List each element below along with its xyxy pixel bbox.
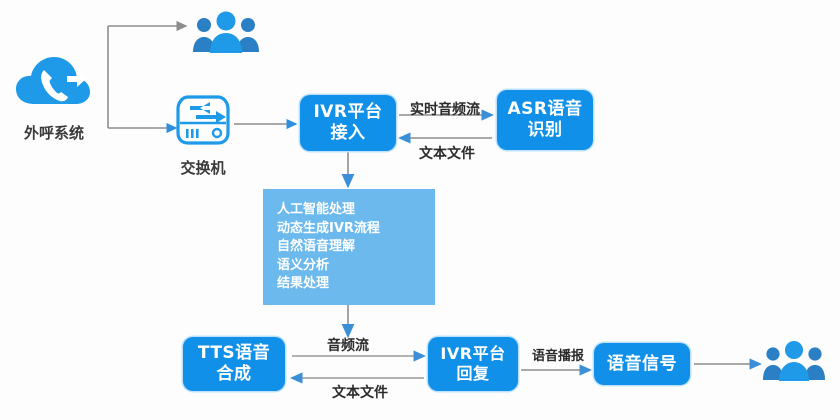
node-tts[interactable]: TTS语音 合成 xyxy=(183,337,285,391)
diagram-canvas: 外呼系统 交换机 xyxy=(0,0,840,420)
node-ai-processing[interactable]: 人工智能处理 动态生成IVR流程 自然语音理解 语义分析 结果处理 xyxy=(263,189,435,305)
people-group-icon xyxy=(192,8,260,56)
outbound-system-label: 外呼系统 xyxy=(4,122,104,143)
edge-label-audio-stream: 音频流 xyxy=(310,335,386,355)
switch-label: 交换机 xyxy=(153,157,253,178)
ai-line-2: 动态生成IVR流程 xyxy=(277,222,380,236)
edge-label-realtime-audio-stream: 实时音频流 xyxy=(393,99,497,119)
ai-line-3: 自然语音理解 xyxy=(277,240,355,254)
node-ivr-reply-line-2: 回复 xyxy=(456,364,489,384)
node-asr-line-2: 识别 xyxy=(528,120,563,141)
node-ivr-access-line-1: IVR平台 xyxy=(313,102,382,123)
ai-line-4: 语义分析 xyxy=(277,259,329,273)
edge-label-text-file-bottom: 文本文件 xyxy=(318,382,402,402)
ai-line-5: 结果处理 xyxy=(277,277,329,291)
edge-label-text-file-top: 文本文件 xyxy=(405,143,489,163)
edge-label-voice-broadcast: 语音播报 xyxy=(518,345,598,364)
node-tts-line-2: 合成 xyxy=(217,364,252,385)
people-group-icon-bottom xyxy=(762,338,826,384)
network-switch-icon xyxy=(172,93,234,151)
cloud-phone-icon xyxy=(14,52,92,114)
node-asr[interactable]: ASR语音 识别 xyxy=(497,90,593,150)
node-ivr-access-line-2: 接入 xyxy=(331,123,366,144)
node-ivr-access[interactable]: IVR平台 接入 xyxy=(300,95,396,151)
node-ivr-reply-line-1: IVR平台 xyxy=(440,344,505,364)
ai-line-1: 人工智能处理 xyxy=(277,203,355,217)
node-voice-signal[interactable]: 语音信号 xyxy=(594,343,690,385)
node-asr-line-1: ASR语音 xyxy=(508,99,583,120)
node-ivr-reply[interactable]: IVR平台 回复 xyxy=(428,337,518,391)
node-tts-line-1: TTS语音 xyxy=(198,343,270,364)
node-voice-signal-line-1: 语音信号 xyxy=(607,354,677,375)
